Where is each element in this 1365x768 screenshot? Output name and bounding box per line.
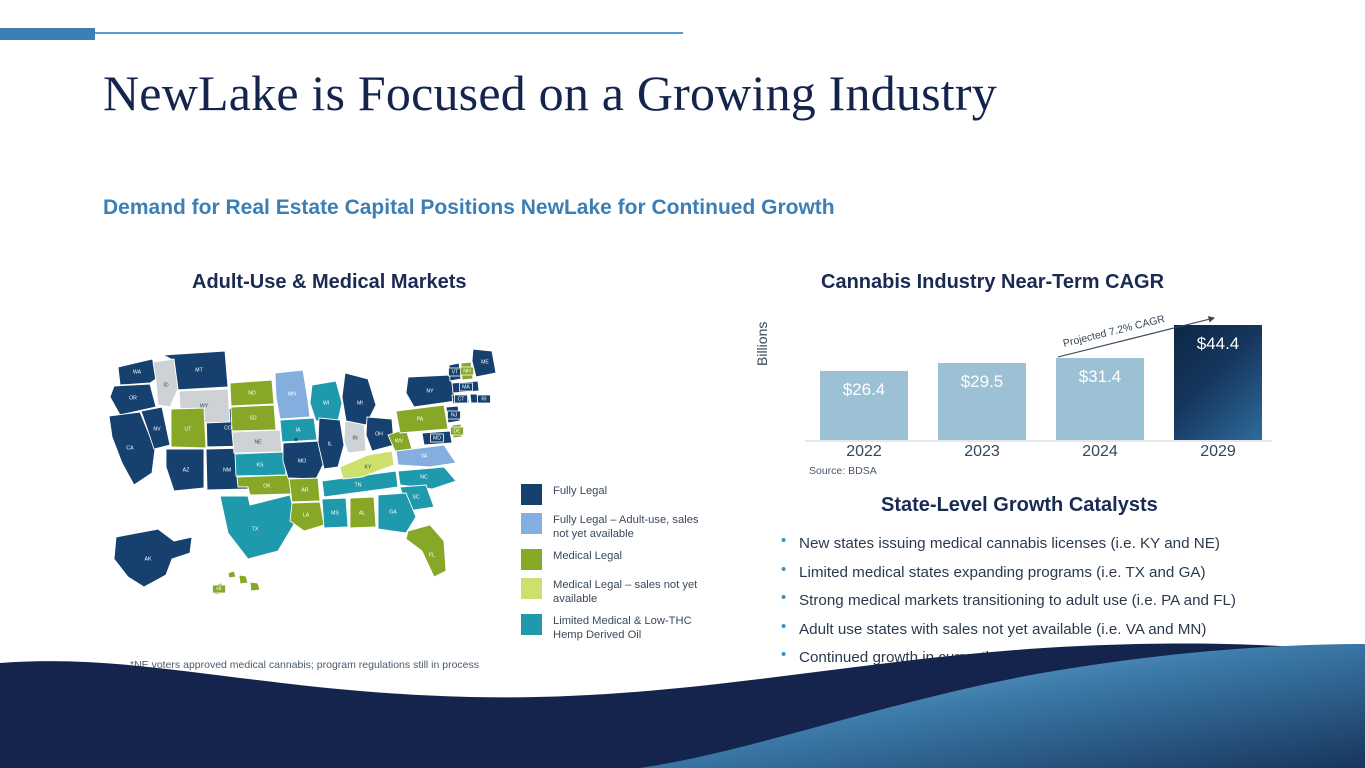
slide-canvas: NewLake is Focused on a Growing Industry… xyxy=(0,0,1365,768)
legend-swatch xyxy=(521,513,542,534)
map-state-la xyxy=(290,502,324,531)
map-callout-box-md xyxy=(431,434,444,442)
chart-bar: $26.4 xyxy=(820,371,908,440)
map-state-me xyxy=(472,349,496,377)
map-state-mn xyxy=(275,370,310,419)
map-callout-box-de xyxy=(451,427,464,435)
map-state-ut xyxy=(171,408,206,448)
map-state-mo xyxy=(283,441,324,479)
bar-category-label: 2022 xyxy=(820,443,908,461)
map-state-hi-island xyxy=(228,571,236,578)
legend-swatch xyxy=(521,578,542,599)
map-state-hi-island xyxy=(239,575,248,584)
top-accent-line xyxy=(95,32,683,34)
map-callout-box-vt xyxy=(449,368,462,376)
catalysts-heading: State-Level Growth Catalysts xyxy=(881,494,1158,517)
chart-y-axis-label: Billions xyxy=(754,322,770,366)
map-callout-box-ri xyxy=(478,395,491,403)
legend-label: Medical Legal xyxy=(553,549,622,564)
chart-bar: $29.5 xyxy=(938,363,1026,440)
map-svg: WAORCANVAZNMCOMTIDWYUTNDSDNEKSOKTXMNIAWI… xyxy=(100,345,520,635)
chart-heading: Cannabis Industry Near-Term CAGR xyxy=(821,271,1164,294)
legend-label: Fully Legal – Adult-use, sales not yet a… xyxy=(553,513,711,541)
map-state-ms xyxy=(322,498,348,528)
bar-category-label: 2023 xyxy=(938,443,1026,461)
map-state-hi-island xyxy=(250,582,260,591)
map-state-al xyxy=(350,497,376,528)
map-state-ri xyxy=(470,394,478,403)
map-callout-box-ct xyxy=(455,395,468,403)
map-state-ks xyxy=(235,452,286,476)
bullet-icon: • xyxy=(779,560,799,579)
map-callout-box-nh xyxy=(461,367,474,375)
cagr-bar-chart: Billions $26.42022$29.52023$31.42024$44.… xyxy=(760,310,1280,485)
cagr-annotation: Projected 7.2% CAGR xyxy=(1050,305,1230,365)
footer-waves xyxy=(0,600,1365,768)
map-state-ia xyxy=(280,418,317,442)
map-state-il xyxy=(318,418,344,469)
map-state-pa xyxy=(396,405,448,433)
slide-footer: NewLake OTCQX: NLCP newlake.com 8 xyxy=(0,600,1365,768)
catalyst-item: •New states issuing medical cannabis lic… xyxy=(779,531,1309,556)
cagr-annotation-text: Projected 7.2% CAGR xyxy=(1062,313,1167,350)
legend-item: Medical Legal xyxy=(521,549,711,570)
legend-label: Fully Legal xyxy=(553,484,607,499)
map-state-wi xyxy=(310,381,342,421)
map-callout-box-hi xyxy=(213,585,226,593)
map-state-ny xyxy=(406,375,456,407)
map-state-in xyxy=(344,421,366,453)
top-accent-bar xyxy=(0,28,95,40)
map-state-az xyxy=(166,449,204,491)
map-state-nd xyxy=(230,380,274,406)
map-panel-heading: Adult-Use & Medical Markets xyxy=(192,271,467,294)
legend-item: Fully Legal – Adult-use, sales not yet a… xyxy=(521,513,711,541)
chart-source: Source: BDSA xyxy=(809,465,877,477)
map-state-ne xyxy=(232,430,282,453)
us-legality-map: WAORCANVAZNMCOMTIDWYUTNDSDNEKSOKTXMNIAWI… xyxy=(100,345,520,635)
map-callout-box-nj xyxy=(448,411,461,419)
bar-value-label: $29.5 xyxy=(961,363,1004,392)
map-state-ok xyxy=(237,475,292,495)
bar-value-label: $26.4 xyxy=(843,371,886,400)
map-callout-box-ma xyxy=(460,383,473,391)
bullet-icon: • xyxy=(779,531,799,550)
chart-bar: $31.4 xyxy=(1056,358,1144,440)
legend-swatch xyxy=(521,484,542,505)
map-state-nc xyxy=(398,467,456,489)
catalyst-item: •Limited medical states expanding progra… xyxy=(779,560,1309,585)
legend-swatch xyxy=(521,549,542,570)
map-state-ak xyxy=(114,529,192,587)
bar-category-label: 2029 xyxy=(1174,443,1262,461)
catalyst-text: Limited medical states expanding program… xyxy=(799,560,1206,585)
legend-item: Fully Legal xyxy=(521,484,711,505)
map-state-sd xyxy=(231,405,276,431)
map-state-ar xyxy=(289,478,320,502)
bar-category-label: 2024 xyxy=(1056,443,1144,461)
page-subtitle: Demand for Real Estate Capital Positions… xyxy=(103,196,835,220)
map-state-fl xyxy=(406,525,446,577)
catalyst-text: New states issuing medical cannabis lice… xyxy=(799,531,1220,556)
map-state-id xyxy=(153,359,178,407)
page-title: NewLake is Focused on a Growing Industry xyxy=(103,64,997,122)
chart-baseline xyxy=(805,440,1272,442)
map-state-tx xyxy=(220,495,296,559)
